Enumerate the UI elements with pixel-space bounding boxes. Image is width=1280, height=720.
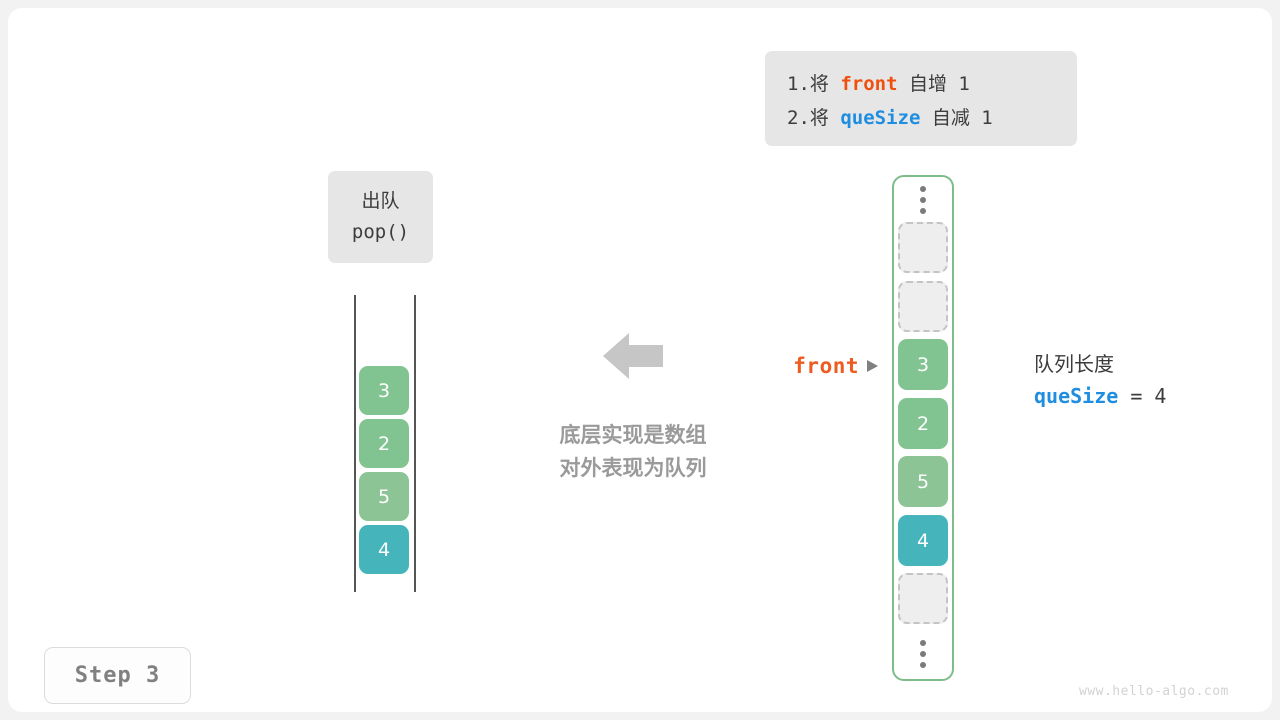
queue-cell-value: 4 bbox=[378, 539, 390, 561]
queue-size-var-name: queSize bbox=[1034, 384, 1118, 408]
watermark: www.hello-algo.com bbox=[1079, 684, 1229, 699]
vertical-dots-icon-top bbox=[916, 186, 930, 214]
array-cell-empty bbox=[898, 222, 948, 273]
operation-step-1-index: 1. bbox=[787, 73, 810, 95]
pop-operation-method: pop() bbox=[328, 217, 433, 248]
queue-size-expression: queSize = 4 bbox=[1034, 379, 1166, 413]
pop-operation-box: 出队 pop() bbox=[328, 171, 433, 263]
operation-steps-box: 1.将 front 自增 1 2.将 queSize 自减 1 bbox=[765, 51, 1077, 146]
array-cell-value: 5 bbox=[917, 471, 929, 493]
array-cell: 5 bbox=[898, 456, 948, 507]
arrow-left-icon bbox=[603, 333, 663, 379]
operation-step-2-prefix: 将 bbox=[810, 107, 840, 129]
queue-cell: 4 bbox=[359, 525, 409, 574]
operation-step-2: 2.将 queSize 自减 1 bbox=[787, 101, 1055, 135]
queue-cell: 2 bbox=[359, 419, 409, 468]
array-cell: 4 bbox=[898, 515, 948, 566]
vertical-dots-icon-bottom bbox=[916, 640, 930, 668]
operation-step-2-index: 2. bbox=[787, 107, 810, 129]
queue-rail-left bbox=[354, 295, 356, 592]
diagram-page: 1.将 front 自增 1 2.将 queSize 自减 1 出队 pop()… bbox=[8, 8, 1272, 712]
queue-cell-value: 2 bbox=[378, 433, 390, 455]
operation-step-2-suffix: 自减 1 bbox=[920, 107, 992, 129]
array-cell-value: 3 bbox=[917, 354, 929, 376]
diagram-canvas: 1.将 front 自增 1 2.将 queSize 自减 1 出队 pop()… bbox=[0, 0, 1280, 720]
queue-cell: 3 bbox=[359, 366, 409, 415]
queue-size-equals: = bbox=[1118, 384, 1154, 408]
operation-step-1-prefix: 将 bbox=[810, 73, 840, 95]
operation-step-1-token: front bbox=[840, 73, 897, 95]
array-cell-empty bbox=[898, 573, 948, 624]
pop-operation-title: 出队 bbox=[328, 186, 433, 217]
center-caption: 底层实现是数组 对外表现为队列 bbox=[513, 419, 753, 485]
array-cell: 3 bbox=[898, 339, 948, 390]
operation-step-1-suffix: 自增 1 bbox=[898, 73, 970, 95]
front-pointer: front bbox=[760, 351, 878, 381]
step-badge: Step 3 bbox=[44, 647, 191, 704]
queue-size-label: 队列长度 bbox=[1034, 349, 1166, 379]
array-cell: 2 bbox=[898, 398, 948, 449]
array-cell-value: 2 bbox=[917, 413, 929, 435]
step-badge-label: Step 3 bbox=[75, 663, 160, 688]
queue-cell: 5 bbox=[359, 472, 409, 521]
center-caption-line-2: 对外表现为队列 bbox=[513, 452, 753, 485]
queue-rail-right bbox=[414, 295, 416, 592]
queue-size-value: 4 bbox=[1154, 384, 1166, 408]
array-cell-value: 4 bbox=[917, 530, 929, 552]
operation-step-2-token: queSize bbox=[840, 107, 920, 129]
queue-cell-value: 5 bbox=[378, 486, 390, 508]
center-caption-line-1: 底层实现是数组 bbox=[513, 419, 753, 452]
queue-cell-value: 3 bbox=[378, 380, 390, 402]
front-pointer-label: front bbox=[793, 354, 859, 378]
pointer-arrow-icon bbox=[867, 360, 878, 372]
array-cell-empty bbox=[898, 281, 948, 332]
operation-step-1: 1.将 front 自增 1 bbox=[787, 67, 1055, 101]
queue-size-annotation: 队列长度 queSize = 4 bbox=[1034, 349, 1166, 413]
